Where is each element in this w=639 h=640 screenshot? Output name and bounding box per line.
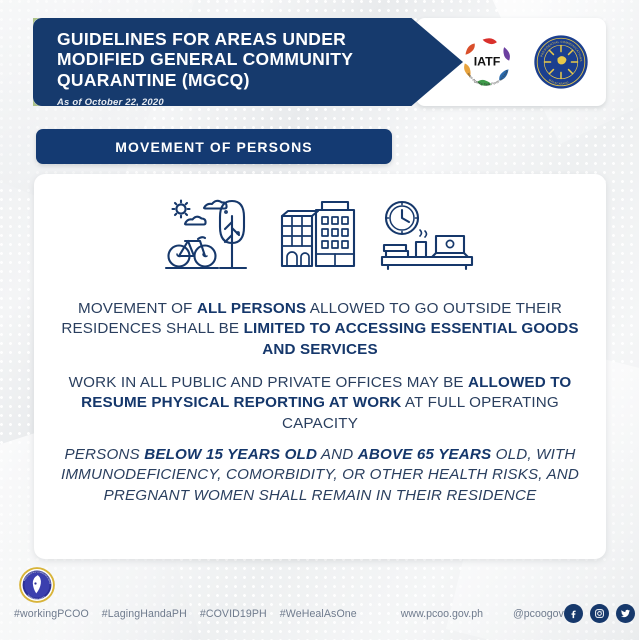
website-url[interactable]: www.pcoo.gov.ph: [401, 608, 483, 620]
social-icon-group: [564, 604, 635, 623]
tree-icon: [220, 201, 246, 268]
body-text-run: MOVEMENT OF: [78, 300, 197, 317]
header-date: As of October 22, 2020: [57, 97, 463, 108]
section-banner-label: MOVEMENT OF PERSONS: [115, 139, 312, 155]
twitter-icon[interactable]: [616, 604, 635, 623]
emphasis-text: ALL PERSONS: [197, 300, 306, 317]
footer-row: #workingPCOO #LagingHandaPH #COVID19PH #…: [0, 604, 639, 623]
buildings-icon: [278, 198, 370, 272]
tower-building-icon: [316, 202, 354, 266]
clock-icon: [386, 202, 418, 234]
footer: PRESIDENTIAL COMMUNICATIONS OPERATIONS O…: [0, 564, 639, 640]
content-card: MOVEMENT OF ALL PERSONS ALLOWED TO GO OU…: [34, 174, 606, 559]
office-building-icon: [282, 211, 318, 266]
instagram-icon[interactable]: [590, 604, 609, 623]
social-handle[interactable]: @pcoogov: [513, 608, 564, 620]
infographic-poster: IATF Inter-Agency Task Force on Emerging…: [0, 0, 639, 640]
emphasis-text: ABOVE 65 YEARS: [358, 446, 492, 463]
site-info: www.pcoo.gov.ph @pcoogov: [401, 608, 564, 620]
hashtag-list: #workingPCOO #LagingHandaPH #COVID19PH #…: [14, 608, 357, 620]
laptop-icon: [432, 236, 468, 257]
sun-icon: [173, 201, 190, 218]
iatf-logo: IATF Inter-Agency Task Force on Emerging…: [456, 31, 518, 93]
header: IATF Inter-Agency Task Force on Emerging…: [33, 18, 606, 106]
hashtag-item: #LagingHandaPH: [102, 608, 187, 620]
illustration-group: [34, 198, 606, 272]
presidential-communications-seal: PRESIDENTIAL COMMUNICATIONS MALACAÑANG: [532, 33, 590, 91]
header-banner: GUIDELINES FOR AREAS UNDER MODIFIED GENE…: [33, 18, 463, 106]
emphasis-text: BELOW 15 YEARS OLD: [144, 446, 317, 463]
guideline-paragraph-2: WORK IN ALL PUBLIC AND PRIVATE OFFICES M…: [56, 373, 584, 434]
facebook-icon[interactable]: [564, 604, 583, 623]
svg-text:IATF: IATF: [474, 55, 501, 69]
guideline-paragraph-3: PERSONS BELOW 15 YEARS OLD AND ABOVE 65 …: [56, 445, 584, 506]
work-scene-icon: [380, 198, 476, 272]
hashtag-item: #COVID19PH: [200, 608, 267, 620]
body-text-run: AND: [317, 446, 358, 463]
guideline-paragraph-1: MOVEMENT OF ALL PERSONS ALLOWED TO GO OU…: [56, 299, 584, 360]
page-title: GUIDELINES FOR AREAS UNDER MODIFIED GENE…: [57, 29, 407, 90]
section-banner: MOVEMENT OF PERSONS: [36, 129, 392, 164]
body-text-run: WORK IN ALL PUBLIC AND PRIVATE OFFICES M…: [69, 374, 468, 391]
emphasis-text: LIMITED TO ACCESSING ESSENTIAL GOODS AND…: [244, 320, 579, 357]
body-text-run: PERSONS: [65, 446, 145, 463]
hashtag-item: #WeHealAsOne: [280, 608, 357, 620]
hashtag-item: #workingPCOO: [14, 608, 89, 620]
pcoo-seal: PRESIDENTIAL COMMUNICATIONS OPERATIONS O…: [18, 566, 56, 604]
coffee-cup-icon: [416, 230, 427, 257]
bicycle-icon: [166, 237, 218, 268]
outdoor-scene-icon: [164, 198, 268, 272]
books-icon: [384, 245, 408, 257]
desk-icon: [382, 257, 472, 269]
